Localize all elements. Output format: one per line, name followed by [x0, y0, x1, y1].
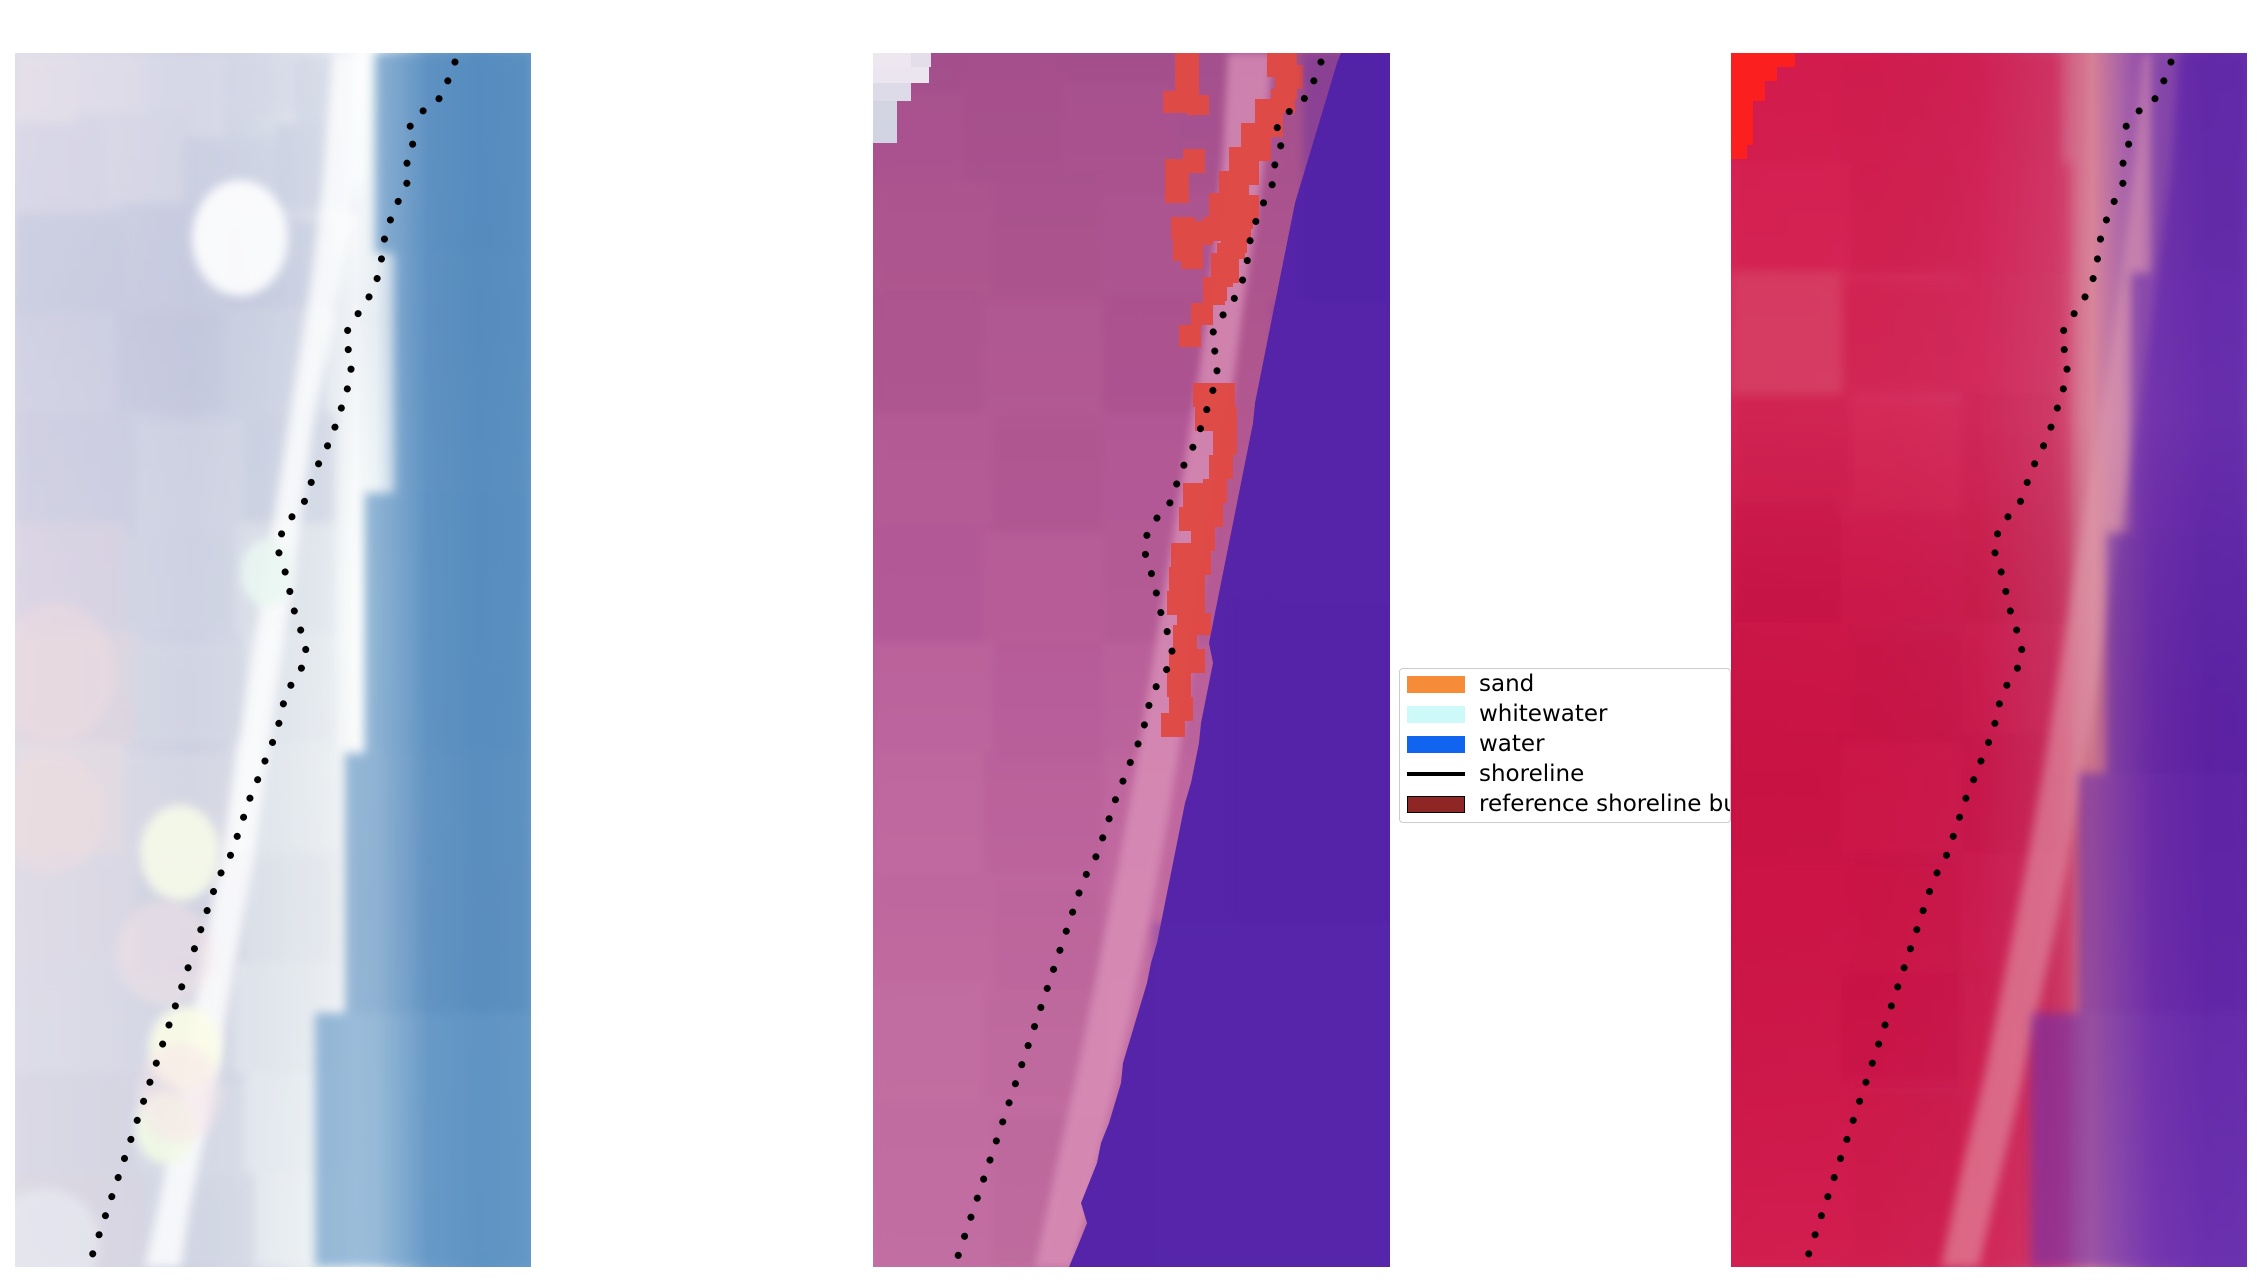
legend-swatch-shoreline-wrap	[1407, 759, 1469, 789]
classified-image	[873, 53, 1390, 1267]
legend-label-shoreline: shoreline	[1469, 761, 1584, 787]
legend-item-reference-shoreline-buffer: reference shoreline buffer	[1400, 789, 1730, 819]
legend-item-sand: sand	[1400, 669, 1730, 699]
sand-swatch-icon	[1407, 676, 1465, 693]
panel-classified: 2007-05-31-09-54-39	[873, 53, 1390, 1267]
legend-label-whitewater: whitewater	[1469, 701, 1607, 727]
legend-box: sand whitewater water shoreline referenc	[1399, 668, 1731, 823]
panel-sar: sar0841	[15, 53, 531, 1267]
legend-swatch-water-wrap	[1407, 729, 1469, 759]
shoreline-line-icon	[1407, 772, 1465, 776]
legend-swatch-buffer-wrap	[1407, 789, 1469, 819]
water-swatch-icon	[1407, 736, 1465, 753]
panel-l5: L5	[1731, 53, 2247, 1267]
legend-label-reference-shoreline-buffer: reference shoreline buffer	[1469, 791, 1731, 817]
figure-root: sar0841	[0, 0, 2260, 1283]
legend-item-whitewater: whitewater	[1400, 699, 1730, 729]
reference-shoreline-buffer-swatch-icon	[1407, 796, 1465, 813]
legend-swatch-sand-wrap	[1407, 669, 1469, 699]
legend-swatch-whitewater-wrap	[1407, 699, 1469, 729]
l5-image	[1731, 53, 2247, 1267]
legend-label-sand: sand	[1469, 671, 1534, 697]
legend-label-water: water	[1469, 731, 1545, 757]
whitewater-swatch-icon	[1407, 706, 1465, 723]
sar-image	[15, 53, 531, 1267]
legend-item-water: water	[1400, 729, 1730, 759]
legend-item-shoreline: shoreline	[1400, 759, 1730, 789]
